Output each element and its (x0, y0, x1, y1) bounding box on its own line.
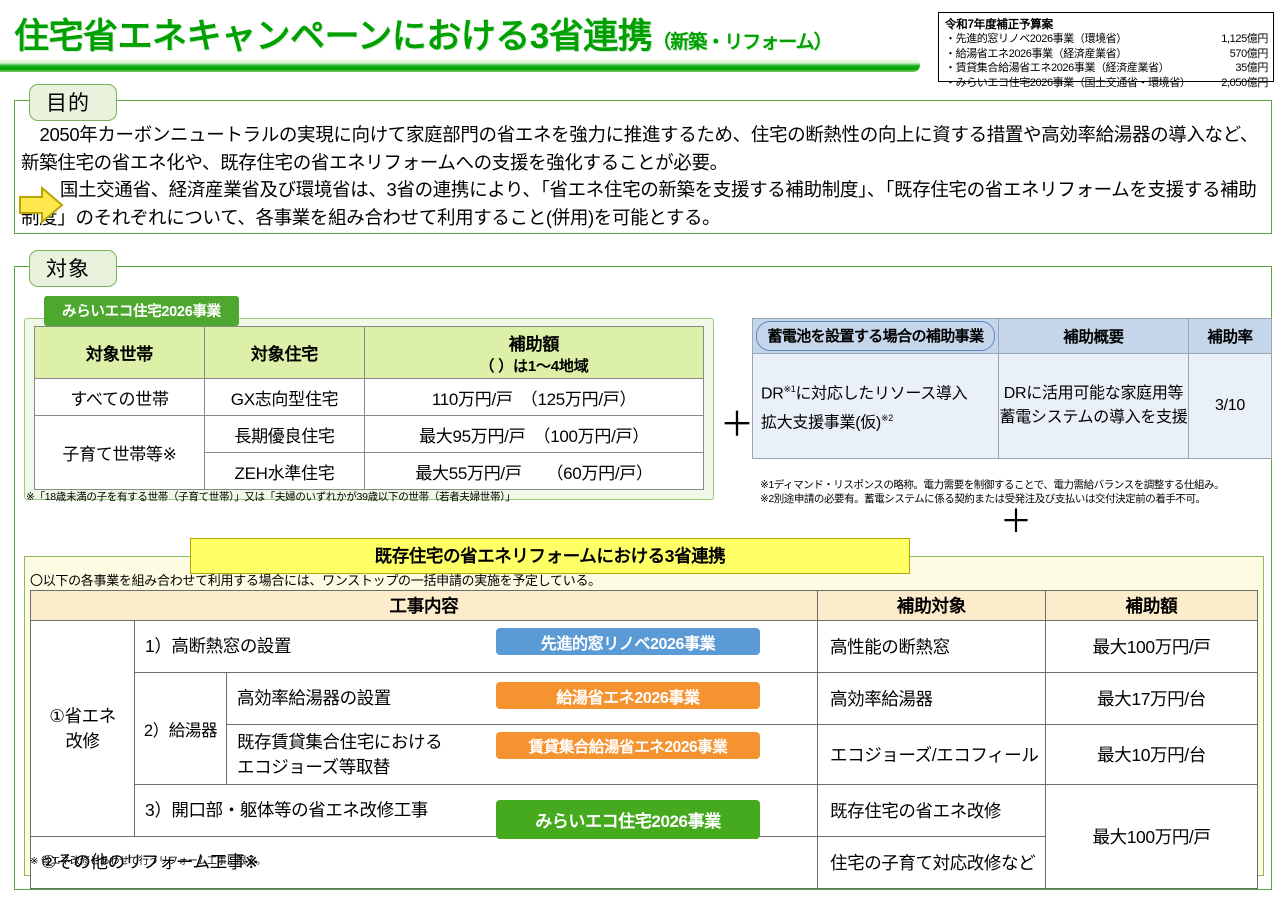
plus-sign-combine-2: ＋ (1000, 505, 1032, 537)
reform-section-title: 既存住宅の省エネリフォームにおける3省連携 (190, 538, 910, 574)
cell-target-3: エコジョーズ/エコフィール (818, 725, 1046, 785)
cell-amount: 110万円/戸 （125万円/戸） (365, 379, 704, 416)
col-header-amount-line1: 補助額 (509, 335, 559, 354)
cell-household: すべての世帯 (35, 379, 205, 416)
purpose-tab-label: 目的 (29, 84, 117, 121)
purpose-body: 2050年カーボンニュートラルの実現に向けて家庭部門の省エネを強力に推進するため… (21, 121, 1267, 231)
cell-battery-program: DR※1に対応したリソース導入 拡大支援事業(仮)※2 (753, 354, 999, 459)
budget-item-amount: 35億円 (1235, 61, 1268, 76)
cell-target-5: 住宅の子育て対応改修など (818, 837, 1046, 889)
page-title-main: 住宅省エネキャンペーンにおける3省連携 (14, 17, 652, 56)
program-chip-kyuto-shoene: 給湯省エネ2026事業 (496, 682, 760, 709)
col-header-battery-program: 蓄電池を設置する場合の補助事業 (753, 319, 999, 354)
cell-household: 子育て世帯等※ (35, 416, 205, 490)
budget-row: ・給湯省エネ2026事業（経済産業省） 570億円 (945, 47, 1268, 62)
cell-housing: ZEH水準住宅 (205, 453, 365, 490)
col-header-amount-line2: （ ）は1〜4地域 (365, 355, 703, 376)
col-header-household: 対象世帯 (35, 327, 205, 379)
col-header-amount: 補助額 （ ）は1〜4地域 (365, 327, 704, 379)
budget-item-name: ・給湯省エネ2026事業（経済産業省） (945, 47, 1127, 62)
table-row: すべての世帯 GX志向型住宅 110万円/戸 （125万円/戸） (35, 379, 704, 416)
budget-item-name: ・先進的窓リノベ2026事業（環境省） (945, 32, 1127, 47)
table-row: DR※1に対応したリソース導入 拡大支援事業(仮)※2 DRに活用可能な家庭用等… (753, 354, 1272, 459)
battery-program-text-c: 拡大支援事業(仮) (761, 414, 881, 431)
battery-outline-line1: DRに活用可能な家庭用等 (1004, 385, 1184, 402)
battery-program-text-a: DR (761, 385, 784, 402)
cell-battery-outline: DRに活用可能な家庭用等 蓄電システムの導入を支援 (999, 354, 1189, 459)
col-header-battery-rate: 補助率 (1189, 319, 1272, 354)
page-title: 住宅省エネキャンペーンにおける3省連携（新築・リフォーム） (14, 8, 832, 59)
program-chip-chintai-shugo: 賃貸集合給湯省エネ2026事業 (496, 732, 760, 759)
cell-amount-2: 最大17万円/台 (1046, 673, 1258, 725)
battery-program-pill: 蓄電池を設置する場合の補助事業 (756, 321, 995, 351)
purpose-paragraph-1: 2050年カーボンニュートラルの実現に向けて家庭部門の省エネを強力に推進するため… (21, 121, 1267, 176)
purpose-paragraph-2: 国土交通省、経済産業省及び環境省は、3省の連携により、「省エネ住宅の新築を支援す… (21, 176, 1267, 231)
cell-housing: GX志向型住宅 (205, 379, 365, 416)
budget-item-amount: 570億円 (1230, 47, 1268, 62)
cell-target-4: 既存住宅の省エネ改修 (818, 785, 1046, 837)
table-header-row: 工事内容 補助対象 補助額 (31, 591, 1258, 621)
battery-footnote-2: ※2別途申請の必要有。蓄電システムに係る契約または受発注及び支払いは交付決定前の… (760, 492, 1280, 506)
page-title-sub: （新築・リフォーム） (652, 32, 831, 53)
cell-category-1: ①省エネ 改修 (31, 621, 135, 837)
category-1-line1: ①省エネ (49, 706, 116, 726)
category-1-line2: 改修 (65, 731, 99, 751)
cell-target-1: 高性能の断熱窓 (818, 621, 1046, 673)
col-header-battery-outline: 補助概要 (999, 319, 1189, 354)
cell-housing: 長期優良住宅 (205, 416, 365, 453)
purpose-panel: 目的 2050年カーボンニュートラルの実現に向けて家庭部門の省エネを強力に推進す… (14, 100, 1272, 234)
cell-amount: 最大95万円/戸 （100万円/戸） (365, 416, 704, 453)
col-header-housing: 対象住宅 (205, 327, 365, 379)
col-header-work: 工事内容 (31, 591, 818, 621)
program-chip-mado-renove: 先進的窓リノベ2026事業 (496, 628, 760, 655)
table-header-row: 対象世帯 対象住宅 補助額 （ ）は1〜4地域 (35, 327, 704, 379)
cell-subcategory-kyuto: 2）給湯器 (135, 673, 227, 785)
battery-subsidy-table: 蓄電池を設置する場合の補助事業 補助概要 補助率 DR※1に対応したリソース導入… (752, 318, 1272, 459)
table-header-row: 蓄電池を設置する場合の補助事業 補助概要 補助率 (753, 319, 1272, 354)
plus-sign-combine-1: ＋ (720, 408, 754, 442)
battery-outline-line2: 蓄電システムの導入を支援 (1000, 409, 1188, 426)
col-header-reform-amount: 補助額 (1046, 591, 1258, 621)
budget-row: ・みらいエコ住宅2026事業（国土交通省・環境省） 2,050億円 (945, 76, 1268, 91)
cell-amount-4: 最大100万円/戸 (1046, 785, 1258, 889)
battery-footnote-1: ※1ディマンド・リスポンスの略称。電力需要を制御することで、電力需給バランスを調… (760, 478, 1280, 492)
reform-footnote: ※ 省エネ改修とあわせて行うリフォーム工事に限る。 (30, 852, 266, 867)
battery-footnotes: ※1ディマンド・リスポンスの略称。電力需要を制御することで、電力需給バランスを調… (760, 478, 1280, 506)
work-3-line2: エコジョーズ等取替 (237, 757, 390, 777)
battery-program-sup-2: ※2 (881, 413, 893, 423)
budget-row: ・賃貸集合給湯省エネ2026事業（経済産業省） 35億円 (945, 61, 1268, 76)
budget-item-name: ・みらいエコ住宅2026事業（国土交通省・環境省） (945, 76, 1190, 91)
cell-amount: 最大55万円/戸 （60万円/戸） (365, 453, 704, 490)
mirai-eco-table: 対象世帯 対象住宅 補助額 （ ）は1〜4地域 すべての世帯 GX志向型住宅 1… (34, 326, 704, 490)
budget-heading: 令和7年度補正予算案 (945, 16, 1268, 32)
budget-row: ・先進的窓リノベ2026事業（環境省） 1,125億円 (945, 32, 1268, 47)
cell-target-2: 高効率給湯器 (818, 673, 1046, 725)
arrow-right-icon (18, 186, 64, 224)
target-tab-label: 対象 (29, 250, 117, 287)
cell-battery-rate: 3/10 (1189, 354, 1272, 459)
col-header-reform-target: 補助対象 (818, 591, 1046, 621)
budget-box: 令和7年度補正予算案 ・先進的窓リノベ2026事業（環境省） 1,125億円 ・… (938, 12, 1274, 82)
program-chip-mirai-eco: みらいエコ住宅2026事業 (496, 800, 760, 839)
battery-program-text-b: に対応したリソース導入 (795, 385, 967, 402)
mirai-eco-program-tab: みらいエコ住宅2026事業 (44, 296, 239, 326)
mirai-eco-footnote: ※「18歳未満の子を有する世帯（子育て世帯）」又は「夫婦のいずれかが39歳以下の… (26, 489, 716, 504)
battery-program-sup-1: ※1 (784, 384, 796, 394)
budget-item-amount: 1,125億円 (1221, 32, 1268, 47)
table-row: 子育て世帯等※ 長期優良住宅 最大95万円/戸 （100万円/戸） (35, 416, 704, 453)
title-accent-bar (0, 58, 920, 72)
cell-amount-1: 最大100万円/戸 (1046, 621, 1258, 673)
budget-item-name: ・賃貸集合給湯省エネ2026事業（経済産業省） (945, 61, 1169, 76)
work-3-line1: 既存賃貸集合住宅における (237, 732, 442, 752)
cell-amount-3: 最大10万円/台 (1046, 725, 1258, 785)
budget-item-amount: 2,050億円 (1221, 76, 1268, 91)
